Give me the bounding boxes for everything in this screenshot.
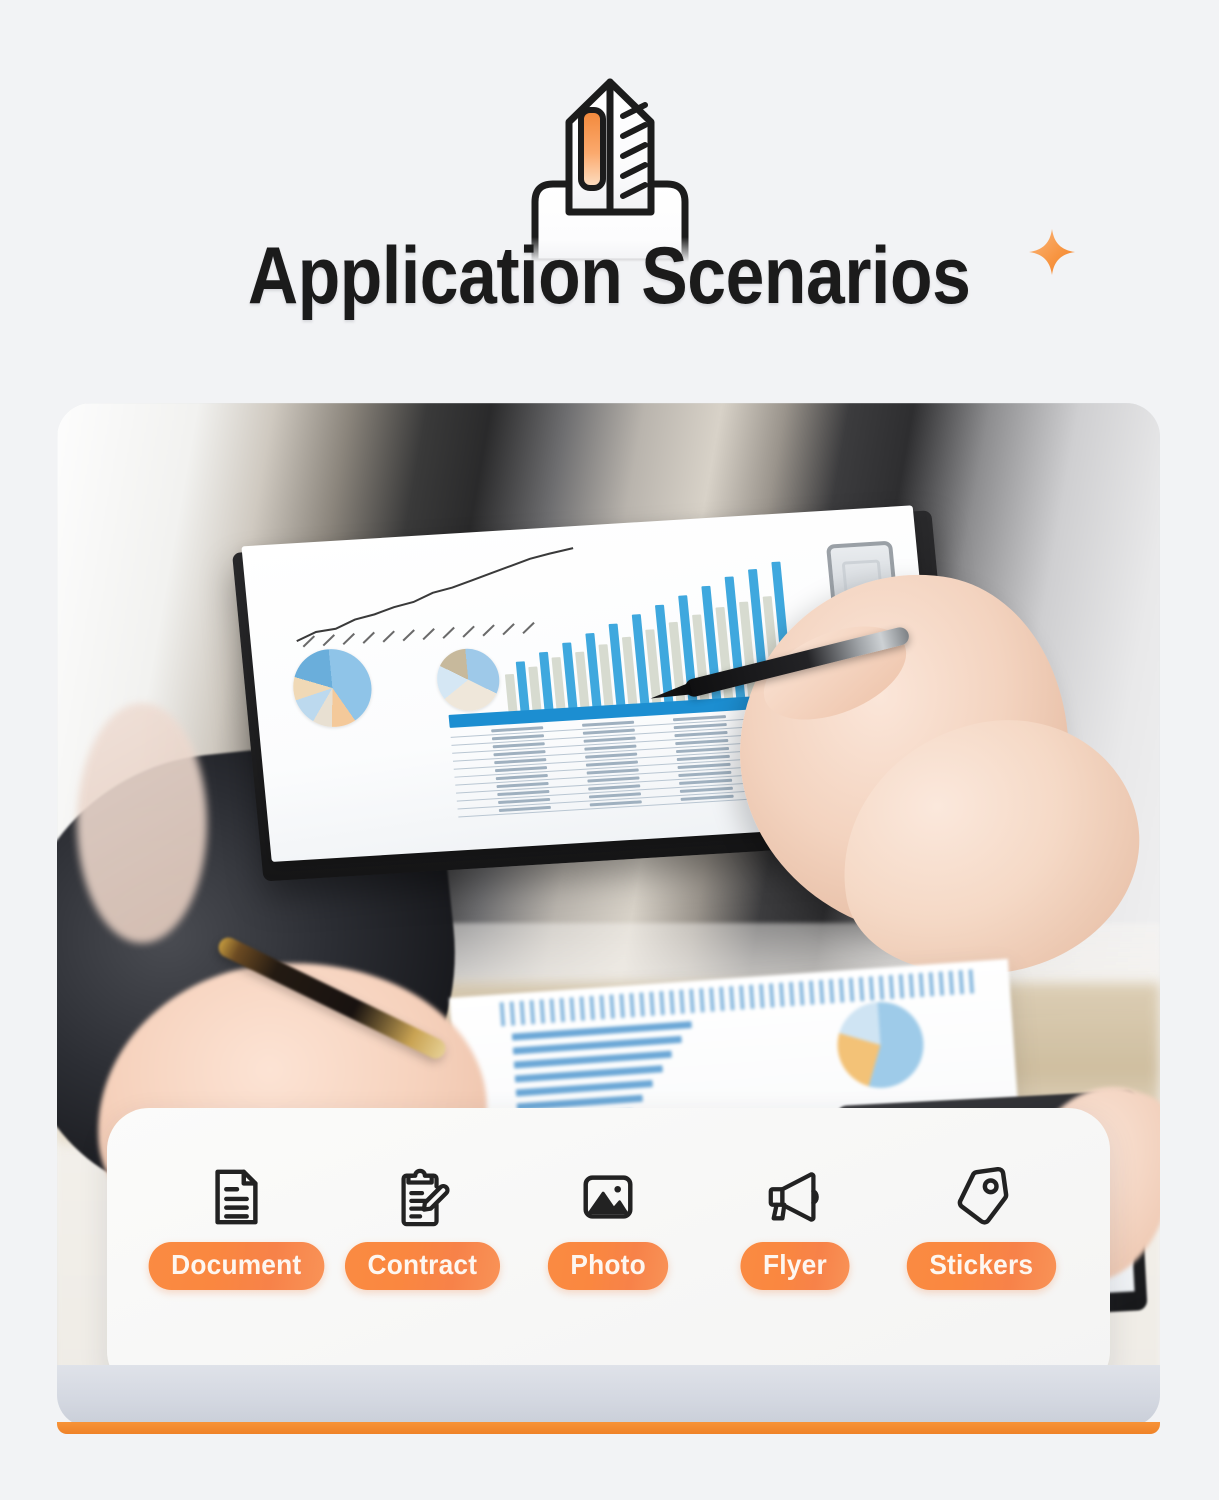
scenario-label-photo: Photo <box>548 1242 669 1290</box>
document-icon <box>205 1166 267 1228</box>
scenario-item-contract[interactable]: Contract <box>332 1166 512 1290</box>
page-header: Application Scenarios <box>0 0 1219 400</box>
pie-chart-two <box>434 647 502 713</box>
scenario-list: Document Contract <box>107 1166 1110 1290</box>
price-tag-icon <box>950 1166 1012 1228</box>
shelf-orange-edge <box>57 1422 1160 1434</box>
shelf-surface <box>57 1365 1160 1427</box>
report-pie-chart-one <box>835 999 927 1091</box>
megaphone-icon <box>764 1166 826 1228</box>
scenario-item-flyer[interactable]: Flyer <box>705 1166 885 1290</box>
photo-image-icon <box>577 1166 639 1228</box>
scenario-label-stickers: Stickers <box>906 1242 1055 1290</box>
scenario-item-stickers[interactable]: Stickers <box>891 1166 1071 1290</box>
scenario-item-document[interactable]: Document <box>146 1166 326 1290</box>
scenario-card: Document Contract <box>107 1108 1110 1393</box>
sparkle-star-icon <box>1028 228 1076 276</box>
scenario-item-photo[interactable]: Photo <box>518 1166 698 1290</box>
application-scenarios-page: Application Scenarios <box>0 0 1219 1500</box>
scenario-label-flyer: Flyer <box>740 1242 849 1290</box>
left-arm <box>77 703 207 943</box>
pie-chart-one <box>290 647 375 729</box>
page-title: Application Scenarios <box>248 236 971 317</box>
contract-clipboard-pen-icon <box>391 1166 453 1228</box>
scenario-label-document: Document <box>148 1242 323 1290</box>
scenario-label-contract: Contract <box>345 1242 500 1290</box>
